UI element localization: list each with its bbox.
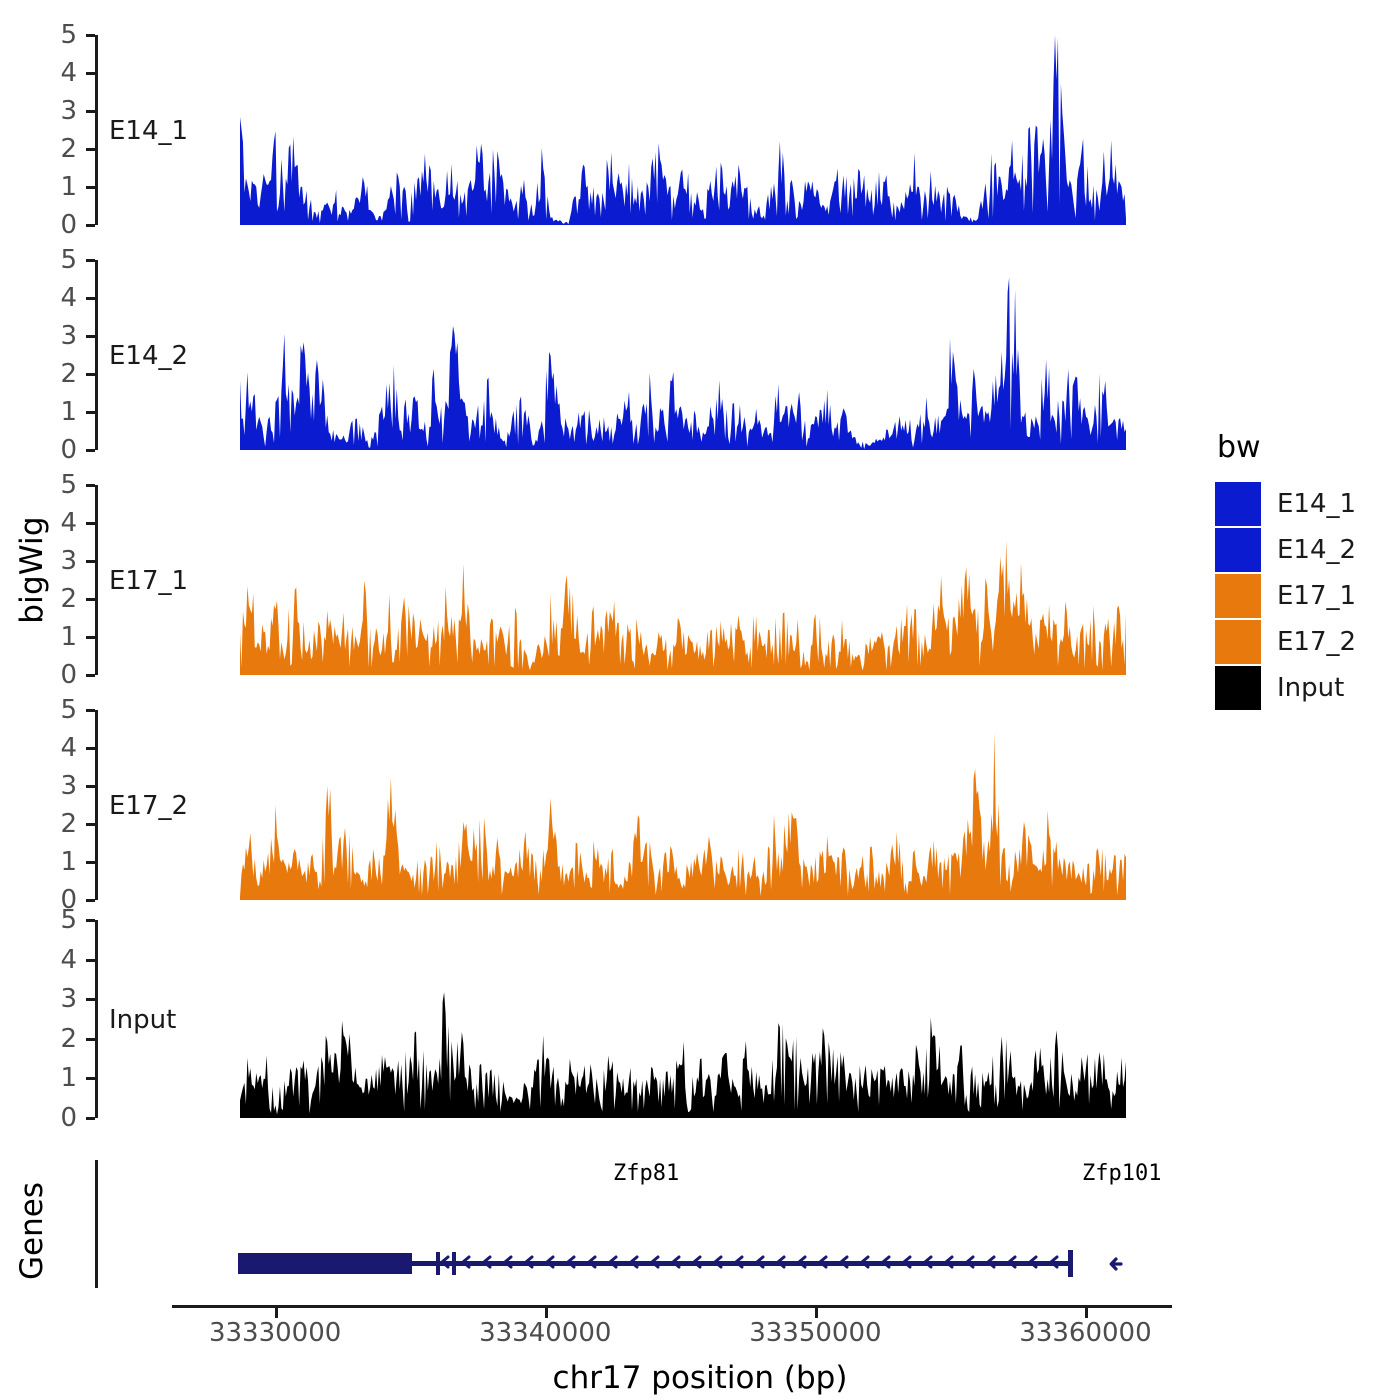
- legend-item-e17_2[interactable]: E17_2: [1215, 619, 1356, 665]
- y-axis-tick-label: 2: [0, 1026, 77, 1052]
- track-panel-input: 012345Input: [0, 920, 1200, 1126]
- bigwig-genome-browser-figure: bigWig Genes 012345E14_1012345E14_201234…: [0, 0, 1400, 1400]
- y-axis-tick-label: 1: [0, 399, 77, 425]
- y-axis-tick: [86, 861, 95, 864]
- y-axis-tick-label: 5: [0, 247, 77, 273]
- y-axis-tick: [86, 411, 95, 414]
- y-axis-tick-label: 1: [0, 1065, 77, 1091]
- y-axis-tick-label: 5: [0, 22, 77, 48]
- y-axis-tick-label: 2: [0, 586, 77, 612]
- x-axis-tick-label: 33350000: [705, 1318, 925, 1348]
- track-coverage-area-e14_1: [240, 35, 1126, 225]
- legend-color-swatch: [1215, 528, 1261, 572]
- y-axis-tick: [86, 998, 95, 1001]
- track-y-axis-line: [95, 920, 98, 1118]
- y-axis-tick: [86, 224, 95, 227]
- x-axis-line: [172, 1305, 1172, 1308]
- y-axis-tick-label: 3: [0, 323, 77, 349]
- track-name-label-e17_1: E17_1: [109, 566, 188, 596]
- legend-item-label: E17_2: [1277, 627, 1356, 657]
- track-panel-e14_2: 012345E14_2: [0, 260, 1200, 458]
- track-panel-e17_1: 012345E17_1: [0, 485, 1200, 683]
- y-axis-tick-label: 3: [0, 98, 77, 124]
- y-axis-tick: [86, 823, 95, 826]
- track-y-axis-line: [95, 35, 98, 225]
- y-axis-tick-label: 2: [0, 811, 77, 837]
- y-axis-tick: [86, 899, 95, 902]
- y-axis-tick-label: 0: [0, 1105, 77, 1131]
- y-axis-tick: [86, 959, 95, 962]
- gene-strand-arrows-zfp81: [412, 1252, 1077, 1276]
- legend-color-swatch: [1215, 574, 1261, 618]
- y-axis-tick-label: 5: [0, 472, 77, 498]
- y-axis-tick: [86, 373, 95, 376]
- x-axis-tick-label: 33330000: [165, 1318, 385, 1348]
- y-axis-tick: [86, 484, 95, 487]
- track-y-axis-line: [95, 260, 98, 450]
- track-name-label-input: Input: [109, 1005, 176, 1035]
- y-axis-tick-label: 5: [0, 907, 77, 933]
- y-axis-tick: [86, 1117, 95, 1120]
- x-axis-tick-label: 33340000: [435, 1318, 655, 1348]
- coverage-path: [240, 35, 1126, 225]
- legend-item-e14_1[interactable]: E14_1: [1215, 481, 1356, 527]
- legend-item-label: E17_1: [1277, 581, 1356, 611]
- y-axis-tick: [86, 785, 95, 788]
- track-name-label-e17_2: E17_2: [109, 791, 188, 821]
- x-axis-tick: [545, 1308, 548, 1318]
- genes-panel: Zfp81 Zfp101: [0, 1160, 1200, 1290]
- y-axis-tick-label: 3: [0, 986, 77, 1012]
- y-axis-tick-label: 0: [0, 437, 77, 463]
- y-axis-tick-label: 3: [0, 548, 77, 574]
- coverage-path: [240, 260, 1126, 450]
- legend-color-swatch: [1215, 666, 1261, 710]
- y-axis-tick: [86, 259, 95, 262]
- y-axis-tick-label: 4: [0, 60, 77, 86]
- y-axis-tick: [86, 297, 95, 300]
- y-axis-tick: [86, 449, 95, 452]
- y-axis-tick-label: 3: [0, 773, 77, 799]
- legend-item-e14_2[interactable]: E14_2: [1215, 527, 1356, 573]
- track-name-label-e14_2: E14_2: [109, 341, 188, 371]
- y-axis-tick: [86, 747, 95, 750]
- x-axis-tick: [275, 1308, 278, 1318]
- y-axis-tick: [86, 919, 95, 922]
- x-axis-tick: [815, 1308, 818, 1318]
- legend-items: E14_1E14_2E17_1E17_2Input: [1215, 481, 1356, 711]
- x-axis-tick: [1085, 1308, 1088, 1318]
- y-axis-tick: [86, 148, 95, 151]
- y-axis-tick-label: 2: [0, 136, 77, 162]
- y-axis-tick-label: 4: [0, 285, 77, 311]
- y-axis-tick: [86, 636, 95, 639]
- y-axis-tick: [86, 709, 95, 712]
- y-axis-tick: [86, 1038, 95, 1041]
- gene-strand-arrow-zfp101: [1105, 1252, 1129, 1276]
- y-axis-tick-label: 0: [0, 212, 77, 238]
- track-coverage-area-input: [240, 920, 1126, 1118]
- legend-color-swatch: [1215, 482, 1261, 526]
- gene-label-zfp101[interactable]: Zfp101: [1082, 1161, 1161, 1186]
- track-coverage-area-e17_2: [240, 710, 1126, 900]
- gene-label-zfp81[interactable]: Zfp81: [613, 1161, 679, 1186]
- y-axis-tick: [86, 186, 95, 189]
- gene-exon-block: [238, 1253, 412, 1274]
- y-axis-tick-label: 4: [0, 510, 77, 536]
- y-axis-tick: [86, 34, 95, 37]
- y-axis-tick: [86, 598, 95, 601]
- track-y-axis-line: [95, 710, 98, 900]
- track-panel-e17_2: 012345E17_2: [0, 710, 1200, 908]
- coverage-path: [240, 920, 1126, 1118]
- y-axis-tick-label: 5: [0, 697, 77, 723]
- x-axis-title: chr17 position (bp): [0, 1360, 1400, 1396]
- y-axis-tick: [86, 335, 95, 338]
- legend-title: bw: [1215, 430, 1356, 465]
- legend-item-label: Input: [1277, 673, 1344, 703]
- legend-item-label: E14_2: [1277, 535, 1356, 565]
- coverage-path: [240, 485, 1126, 675]
- genes-panel-axis: [95, 1160, 98, 1288]
- track-y-axis-line: [95, 485, 98, 675]
- track-coverage-area-e14_2: [240, 260, 1126, 450]
- y-axis-tick-label: 0: [0, 662, 77, 688]
- legend-color-swatch: [1215, 620, 1261, 664]
- y-axis-tick: [86, 674, 95, 677]
- track-panel-e14_1: 012345E14_1: [0, 35, 1200, 233]
- track-name-label-e14_1: E14_1: [109, 116, 188, 146]
- y-axis-tick: [86, 522, 95, 525]
- y-axis-tick-label: 4: [0, 947, 77, 973]
- y-axis-tick: [86, 1077, 95, 1080]
- legend-item-label: E14_1: [1277, 489, 1356, 519]
- coverage-path: [240, 710, 1126, 900]
- y-axis-tick-label: 4: [0, 735, 77, 761]
- y-axis-tick: [86, 110, 95, 113]
- legend-item-input[interactable]: Input: [1215, 665, 1356, 711]
- legend-item-e17_1[interactable]: E17_1: [1215, 573, 1356, 619]
- x-axis-tick-label: 33360000: [975, 1318, 1195, 1348]
- y-axis-tick: [86, 72, 95, 75]
- y-axis-tick-label: 1: [0, 624, 77, 650]
- y-axis-tick: [86, 560, 95, 563]
- y-axis-tick-label: 1: [0, 849, 77, 875]
- track-coverage-area-e17_1: [240, 485, 1126, 675]
- y-axis-tick-label: 2: [0, 361, 77, 387]
- y-axis-tick-label: 1: [0, 174, 77, 200]
- legend: bw E14_1E14_2E17_1E17_2Input: [1215, 430, 1356, 711]
